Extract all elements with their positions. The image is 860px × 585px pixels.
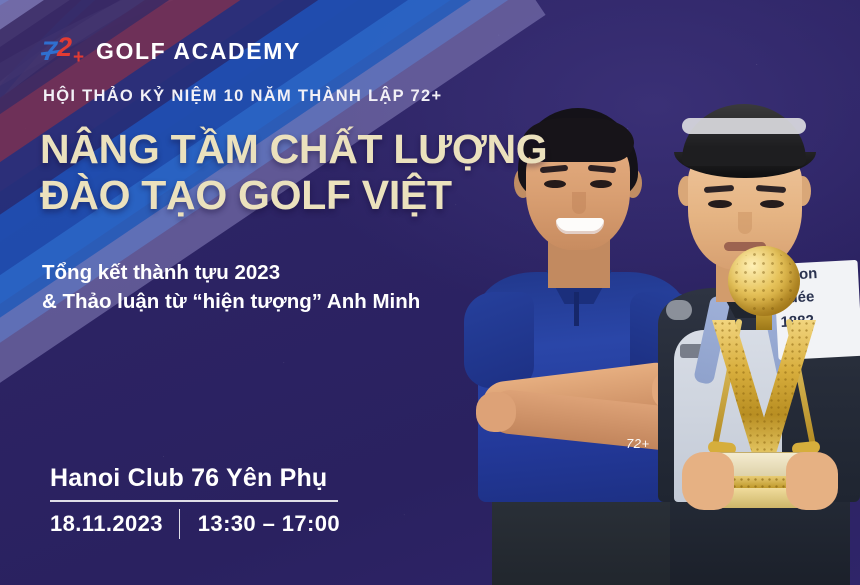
coach-nose xyxy=(572,192,586,214)
trophy-golf-ball xyxy=(728,246,800,316)
coach-hand-left xyxy=(476,392,516,432)
coach-eye-left xyxy=(544,180,566,188)
headline-line-1: NÂNG TẦM CHẤT LƯỢNG xyxy=(40,126,510,172)
venue-name: Hanoi Club 76 Yên Phụ xyxy=(50,464,340,493)
brand-name: GOLF ACADEMY xyxy=(96,38,301,65)
junior-eye-left xyxy=(708,200,732,208)
logo-72plus-icon: 7 2 + xyxy=(42,36,86,66)
junior-cap xyxy=(682,104,806,166)
logo-two: 2 xyxy=(57,34,72,61)
headline: NÂNG TẦM CHẤT LƯỢNG ĐÀO TẠO GOLF VIỆT xyxy=(40,126,510,219)
coach-eye-right xyxy=(590,180,612,188)
junior-hand-left xyxy=(682,452,734,510)
coach-smile xyxy=(556,218,604,234)
coach-placket xyxy=(574,292,579,326)
event-description: Tổng kết thành tựu 2023 & Thảo luận từ “… xyxy=(42,258,420,316)
event-details: Hanoi Club 76 Yên Phụ 18.11.2023 13:30 –… xyxy=(50,464,340,539)
junior-nose xyxy=(738,212,752,234)
coach-sleeve-left xyxy=(464,292,534,388)
brand-lockup: 7 2 + GOLF ACADEMY xyxy=(42,36,301,66)
junior-eye-right xyxy=(760,200,784,208)
event-kicker: HỘI THẢO KỶ NIỆM 10 NĂM THÀNH LẬP 72+ xyxy=(43,87,442,106)
event-time: 13:30 – 17:00 xyxy=(198,511,340,537)
poster-content: 7 2 + GOLF ACADEMY HỘI THẢO KỶ NIỆM 10 N… xyxy=(0,0,470,585)
date-time-separator xyxy=(179,509,180,539)
date-time-row: 18.11.2023 13:30 – 17:00 xyxy=(50,509,340,539)
junior-cap-band xyxy=(682,118,806,134)
junior-shoulder-patch xyxy=(666,300,692,320)
description-line-2: & Thảo luận từ “hiện tượng” Anh Minh xyxy=(42,287,420,316)
logo-plus: + xyxy=(73,48,84,67)
event-poster: 72+ aison ndée 1882 xyxy=(0,0,860,585)
coach-shirt-logo: 72+ xyxy=(626,436,650,451)
coach-trousers xyxy=(492,494,674,585)
event-date: 18.11.2023 xyxy=(50,511,163,537)
details-divider xyxy=(50,500,338,502)
junior-hand-right xyxy=(786,452,838,510)
headline-line-2: ĐÀO TẠO GOLF VIỆT xyxy=(40,172,510,218)
golfers-photo: 72+ aison ndée 1882 xyxy=(430,0,860,585)
description-line-1: Tổng kết thành tựu 2023 xyxy=(42,258,420,287)
